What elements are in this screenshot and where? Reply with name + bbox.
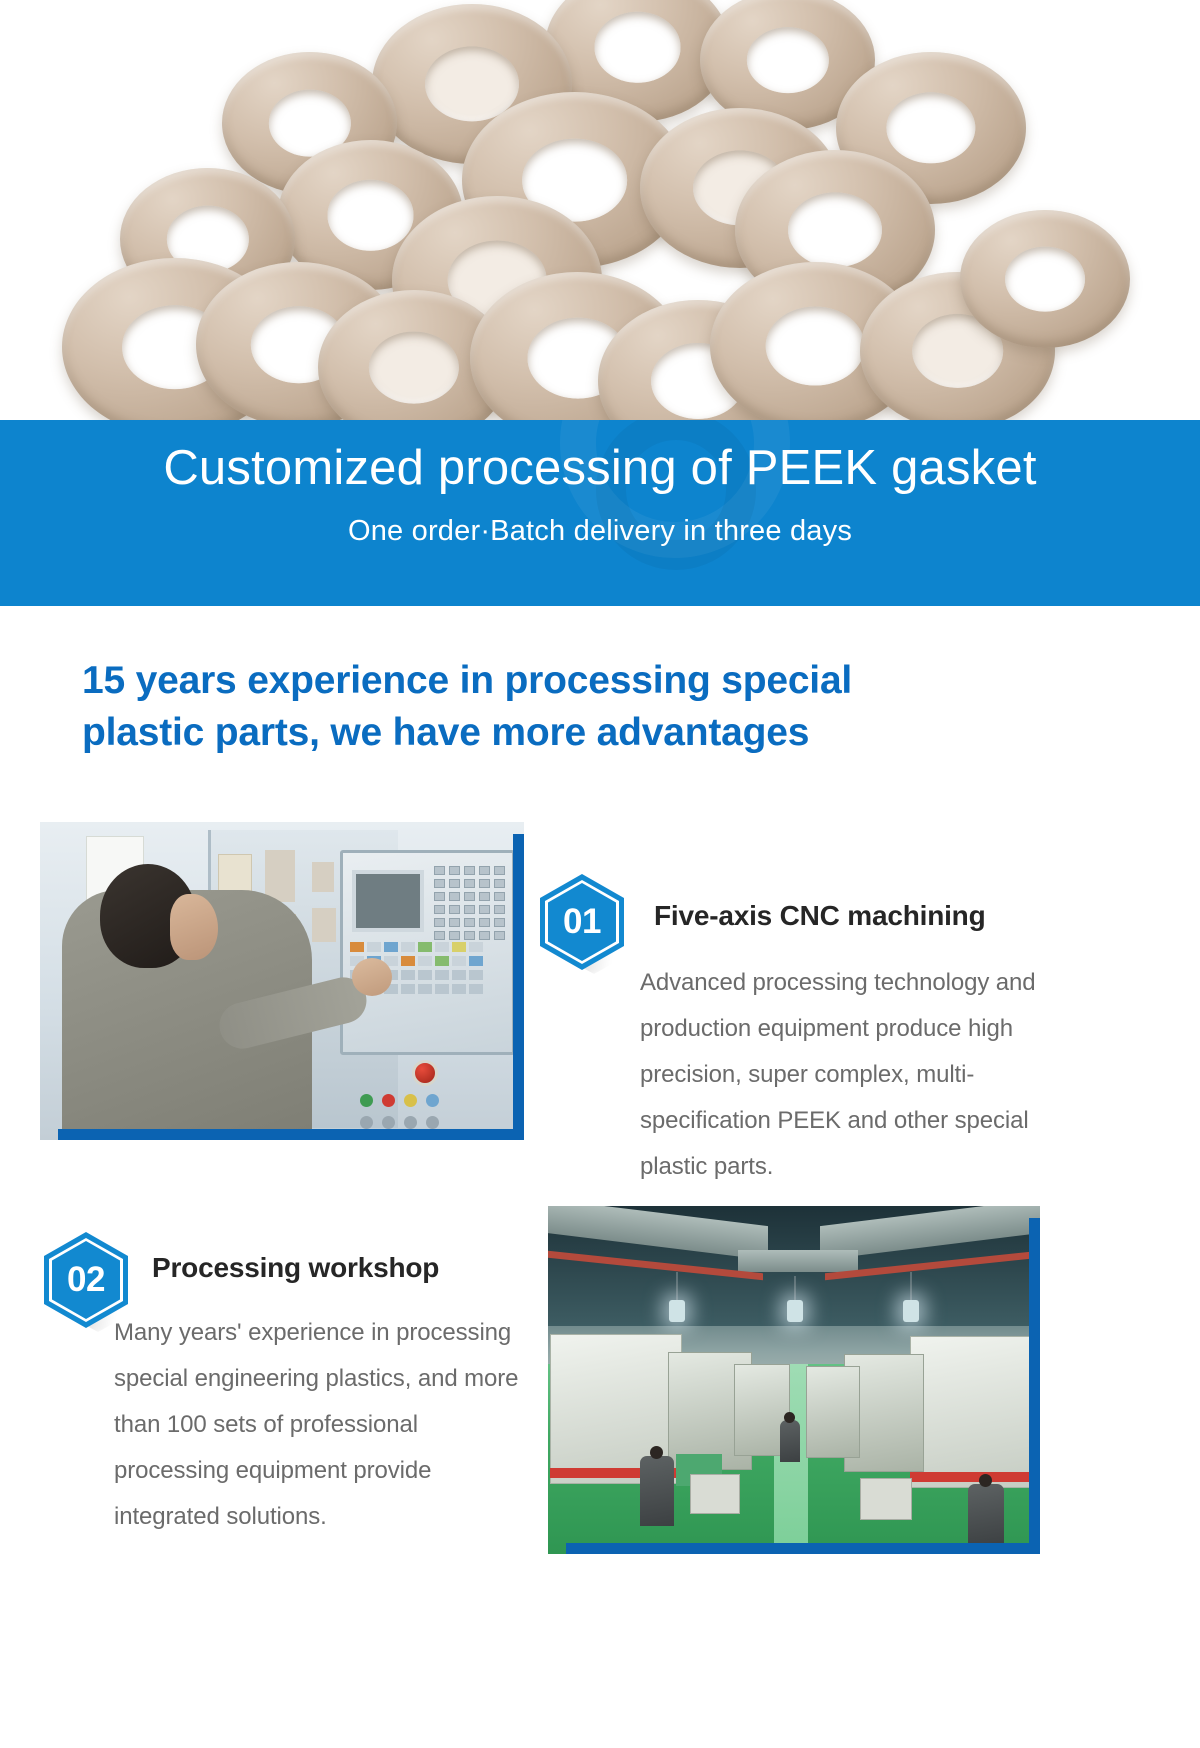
- banner-title: Customized processing of PEEK gasket: [0, 442, 1200, 496]
- section-02-image: [548, 1206, 1040, 1554]
- section-02-body: Many years' experience in processing spe…: [114, 1310, 522, 1540]
- lamp-stem-3: [910, 1272, 912, 1302]
- image-border-right: [1029, 1218, 1040, 1554]
- page-heading-line-2: plastic parts, we have more advantages: [82, 707, 1092, 759]
- warning-label-5: [312, 908, 336, 942]
- lamp-stem-1: [676, 1272, 678, 1302]
- worker-left-head: [650, 1446, 663, 1459]
- worker-right: [968, 1484, 1004, 1546]
- material-cart-right: [860, 1478, 912, 1520]
- page-heading: 15 years experience in processing specia…: [82, 655, 1092, 760]
- worker-left: [640, 1456, 674, 1526]
- cnc-display-screen: [352, 870, 424, 932]
- promo-banner: Customized processing of PEEK gasket One…: [0, 420, 1200, 606]
- section-01-title: Five-axis CNC machining: [654, 900, 985, 932]
- cnc-machine-right-3: [806, 1366, 860, 1458]
- warning-label-2: [265, 850, 295, 902]
- hero-gasket-pile: [0, 0, 1200, 422]
- worker-right-head: [979, 1474, 992, 1487]
- worker-face: [170, 894, 218, 960]
- worker-hand: [352, 958, 392, 996]
- banner-subtitle: One order·Batch delivery in three days: [0, 515, 1200, 548]
- badge-number: 01: [540, 874, 624, 970]
- image-border-bottom: [58, 1129, 524, 1140]
- machine-accent-red-right: [910, 1472, 1038, 1482]
- section-01-image: [40, 822, 524, 1140]
- section-01-number-badge: 01: [540, 874, 624, 970]
- worker-center: [780, 1420, 800, 1462]
- ceiling-lamp-1: [669, 1300, 685, 1322]
- cnc-keypad-upper: [434, 866, 506, 946]
- page-heading-line-1: 15 years experience in processing specia…: [82, 655, 1092, 707]
- ceiling-lamp-3: [903, 1300, 919, 1322]
- image-border-bottom: [566, 1543, 1040, 1554]
- emergency-stop-button: [412, 1060, 438, 1086]
- ceiling-duct-center: [738, 1250, 858, 1272]
- warning-label-4: [312, 862, 334, 892]
- worker-center-head: [784, 1412, 795, 1423]
- ceiling-lamp-2: [787, 1300, 803, 1322]
- image-border-right: [513, 834, 524, 1140]
- cnc-machine-right-1: [910, 1336, 1038, 1488]
- hero-product-image: [0, 0, 1200, 422]
- lamp-stem-2: [794, 1276, 796, 1302]
- section-02-title: Processing workshop: [152, 1252, 439, 1284]
- material-cart-left: [690, 1474, 740, 1514]
- section-01-body: Advanced processing technology and produ…: [640, 960, 1072, 1190]
